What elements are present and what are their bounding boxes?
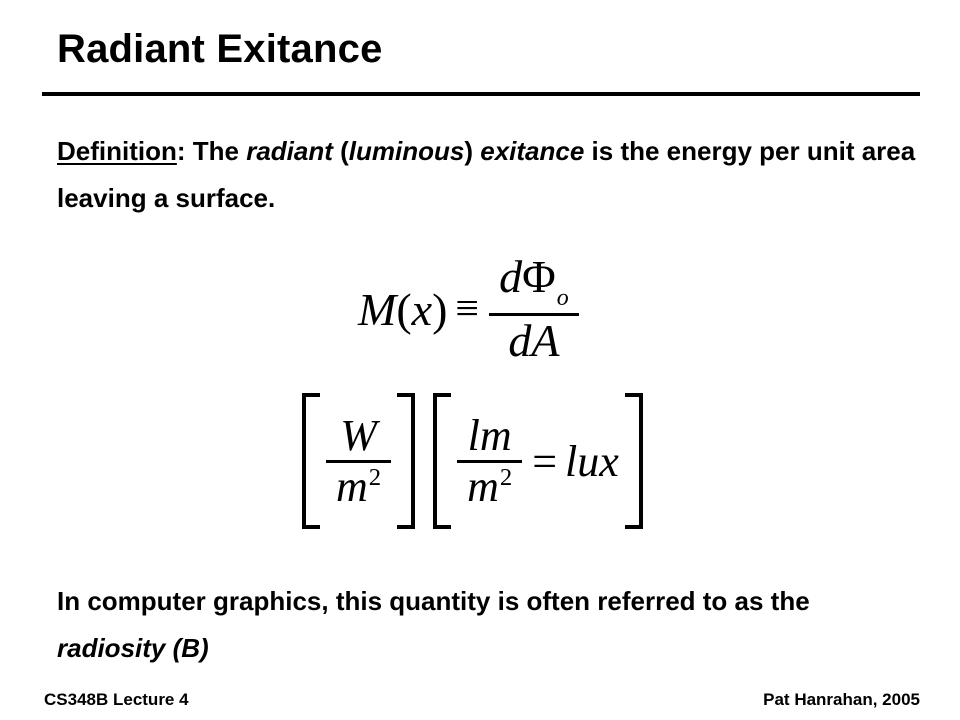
term-radiant: radiant <box>246 136 333 166</box>
radiometric-units-body: W m2 <box>320 412 397 511</box>
equation-left-hand-side: M(x) <box>358 283 447 336</box>
photometric-units-group: lm m2 = lux <box>433 393 643 529</box>
photometric-units-body: lm m2 = lux <box>451 412 625 511</box>
lumens-per-square-meter-fraction: lm m2 <box>457 412 522 511</box>
square-meter-denominator: m2 <box>326 463 391 511</box>
term-luminous: luminous <box>349 136 465 166</box>
open-paren: ( <box>396 284 411 335</box>
exponent-two: 2 <box>369 464 381 491</box>
page-title: Radiant Exitance <box>57 27 383 71</box>
radiometric-units-group: W m2 <box>302 393 415 529</box>
square-meter-denominator: m2 <box>457 463 522 511</box>
right-square-bracket-icon <box>397 393 415 529</box>
radiosity-symbol: (B) <box>165 633 208 663</box>
lumen-symbol: lm <box>458 412 522 460</box>
units-row: W m2 lm m2 = lux <box>302 393 643 529</box>
flux-over-area-fraction: dΦo dA <box>489 252 579 366</box>
left-square-bracket-icon <box>433 393 451 529</box>
left-square-bracket-icon <box>302 393 320 529</box>
outgoing-subscript: o <box>557 285 569 311</box>
term-radiosity: radiosity <box>57 633 165 663</box>
right-square-bracket-icon <box>625 393 643 529</box>
equivalence-sign: ≡ <box>455 285 479 333</box>
fraction-denominator: dA <box>498 316 569 366</box>
watt-symbol: W <box>330 412 387 460</box>
definition-paragraph: Definition: The radiant (luminous) exita… <box>57 128 917 222</box>
radiosity-note-lead: In computer graphics, this quantity is o… <box>57 586 810 616</box>
variable-x: x <box>412 284 432 335</box>
radiant-exitance-equation: M(x) ≡ dΦo dA <box>358 252 579 366</box>
definition-close-paren: ) <box>464 136 480 166</box>
definition-open-paren: ( <box>333 136 349 166</box>
slide-canvas: Radiant Exitance Definition: The radiant… <box>0 0 960 720</box>
footer-author-label: Pat Hanrahan, 2005 <box>763 690 920 710</box>
differential-d: d <box>499 251 522 302</box>
radiosity-note-paragraph: In computer graphics, this quantity is o… <box>57 578 857 672</box>
footer-course-label: CS348B Lecture 4 <box>44 690 189 710</box>
symbol-M: M <box>358 284 396 335</box>
close-paren: ) <box>432 284 447 335</box>
equals-sign: = <box>532 436 557 487</box>
definition-label: Definition <box>57 136 177 166</box>
watts-per-square-meter-fraction: W m2 <box>326 412 391 511</box>
lux-symbol: lux <box>565 436 619 487</box>
title-divider <box>42 92 920 96</box>
differential-d-area: d <box>508 315 531 366</box>
fraction-numerator: dΦo <box>489 252 579 313</box>
term-exitance: exitance <box>480 136 584 166</box>
meter-symbol: m <box>467 462 499 511</box>
flux-phi-symbol: Φ <box>522 251 556 302</box>
definition-colon: : The <box>177 136 246 166</box>
area-A-symbol: A <box>531 315 559 366</box>
meter-symbol: m <box>336 462 368 511</box>
exponent-two: 2 <box>500 464 512 491</box>
